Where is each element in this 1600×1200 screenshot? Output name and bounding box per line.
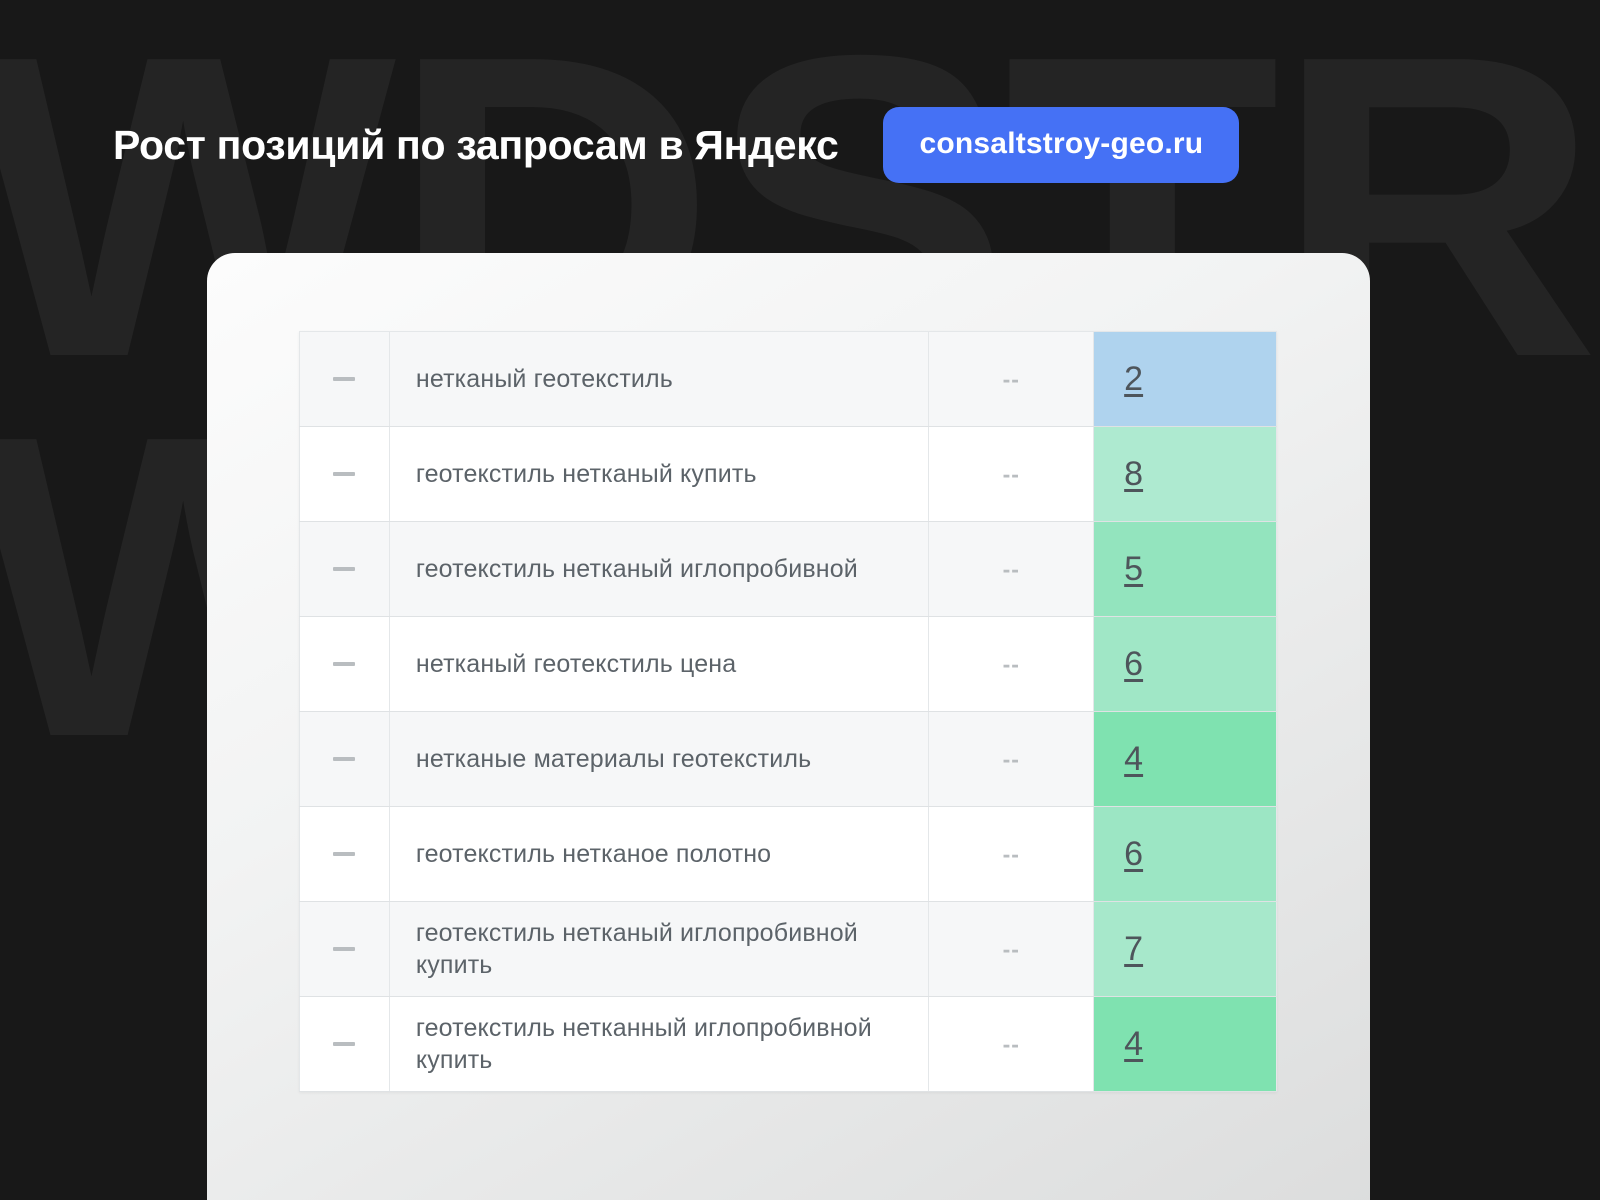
query-cell[interactable]: геотекстиль нетканый иглопробивной: [389, 522, 929, 617]
query-cell[interactable]: геотекстиль нетканое полотно: [389, 807, 929, 902]
empty-value-glyph: --: [1003, 556, 1020, 582]
table-row[interactable]: нетканый геотекстиль--2: [300, 332, 1277, 427]
table-row[interactable]: геотекстиль нетканый иглопробивной--5: [300, 522, 1277, 617]
query-text: геотекстиль нетканый иглопробивной: [416, 553, 929, 585]
dash-icon: [333, 947, 355, 951]
empty-value-glyph: --: [1003, 936, 1020, 962]
query-text: нетканый геотекстиль: [416, 363, 929, 395]
table-row[interactable]: геотекстиль нетканый иглопробивной купит…: [300, 902, 1277, 997]
query-text: геотекстиль нетканый иглопробивной купит…: [416, 917, 929, 981]
table-row[interactable]: геотекстиль нетканое полотно--6: [300, 807, 1277, 902]
position-value: 8: [1124, 455, 1143, 493]
change-indicator-cell: [300, 902, 390, 997]
position-cell[interactable]: 7: [1094, 902, 1277, 997]
change-indicator-cell: [300, 332, 390, 427]
position-value: 2: [1124, 360, 1143, 398]
query-cell[interactable]: геотекстиль нетканый иглопробивной купит…: [389, 902, 929, 997]
change-indicator-cell: [300, 712, 390, 807]
dash-icon: [333, 567, 355, 571]
domain-badge-label: consaltstroy-geo.ru: [919, 127, 1203, 161]
table-row[interactable]: геотекстиль нетканый купить--8: [300, 427, 1277, 522]
query-cell[interactable]: нетканые материалы геотекстиль: [389, 712, 929, 807]
previous-position-cell: --: [929, 712, 1094, 807]
table-row[interactable]: геотекстиль нетканный иглопробивной купи…: [300, 997, 1277, 1092]
domain-badge: consaltstroy-geo.ru: [883, 107, 1239, 183]
position-cell[interactable]: 8: [1094, 427, 1277, 522]
position-cell[interactable]: 4: [1094, 712, 1277, 807]
table-row[interactable]: нетканые материалы геотекстиль--4: [300, 712, 1277, 807]
position-cell[interactable]: 4: [1094, 997, 1277, 1092]
previous-position-cell: --: [929, 332, 1094, 427]
dash-icon: [333, 377, 355, 381]
header-bar: Рост позиций по запросам в Яндекс consal…: [113, 108, 1239, 182]
change-indicator-cell: [300, 807, 390, 902]
position-cell[interactable]: 6: [1094, 617, 1277, 712]
change-indicator-cell: [300, 617, 390, 712]
query-cell[interactable]: геотекстиль нетканный иглопробивной купи…: [389, 997, 929, 1092]
dash-icon: [333, 757, 355, 761]
query-cell[interactable]: геотекстиль нетканый купить: [389, 427, 929, 522]
previous-position-cell: --: [929, 427, 1094, 522]
query-cell[interactable]: нетканый геотекстиль цена: [389, 617, 929, 712]
position-value: 6: [1124, 835, 1143, 873]
change-indicator-cell: [300, 522, 390, 617]
empty-value-glyph: --: [1003, 1031, 1020, 1057]
change-indicator-cell: [300, 997, 390, 1092]
report-card: нетканый геотекстиль--2геотекстиль нетка…: [207, 253, 1370, 1200]
dash-icon: [333, 1042, 355, 1046]
position-value: 5: [1124, 550, 1143, 588]
table-row[interactable]: нетканый геотекстиль цена--6: [300, 617, 1277, 712]
change-indicator-cell: [300, 427, 390, 522]
query-text: геотекстиль нетканый купить: [416, 458, 929, 490]
empty-value-glyph: --: [1003, 746, 1020, 772]
position-cell[interactable]: 2: [1094, 332, 1277, 427]
previous-position-cell: --: [929, 997, 1094, 1092]
position-value: 4: [1124, 740, 1143, 778]
empty-value-glyph: --: [1003, 841, 1020, 867]
table-body: нетканый геотекстиль--2геотекстиль нетка…: [300, 332, 1277, 1092]
previous-position-cell: --: [929, 522, 1094, 617]
position-cell[interactable]: 5: [1094, 522, 1277, 617]
empty-value-glyph: --: [1003, 651, 1020, 677]
position-value: 6: [1124, 645, 1143, 683]
dash-icon: [333, 472, 355, 476]
previous-position-cell: --: [929, 617, 1094, 712]
empty-value-glyph: --: [1003, 461, 1020, 487]
query-cell[interactable]: нетканый геотекстиль: [389, 332, 929, 427]
dash-icon: [333, 852, 355, 856]
empty-value-glyph: --: [1003, 366, 1020, 392]
previous-position-cell: --: [929, 807, 1094, 902]
query-text: геотекстиль нетканое полотно: [416, 838, 929, 870]
query-text: нетканые материалы геотекстиль: [416, 743, 929, 775]
previous-position-cell: --: [929, 902, 1094, 997]
keyword-positions-table: нетканый геотекстиль--2геотекстиль нетка…: [299, 331, 1277, 1092]
query-text: нетканый геотекстиль цена: [416, 648, 929, 680]
position-cell[interactable]: 6: [1094, 807, 1277, 902]
page-title: Рост позиций по запросам в Яндекс: [113, 122, 838, 169]
position-value: 7: [1124, 930, 1143, 968]
position-value: 4: [1124, 1025, 1143, 1063]
query-text: геотекстиль нетканный иглопробивной купи…: [416, 1012, 929, 1076]
dash-icon: [333, 662, 355, 666]
